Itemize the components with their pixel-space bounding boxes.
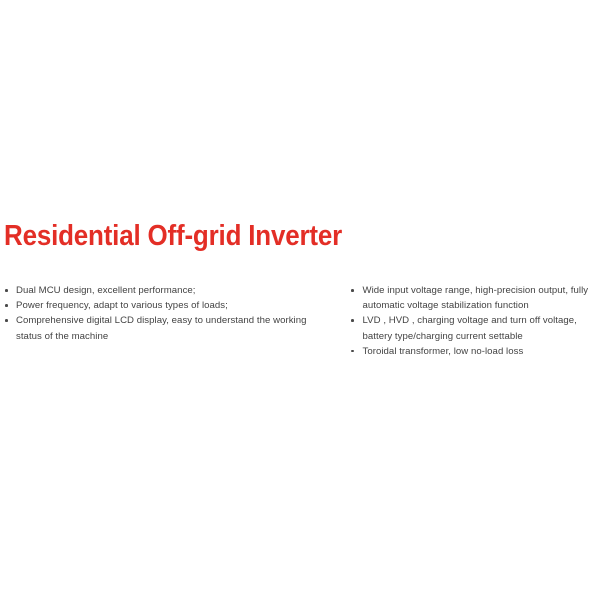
- feature-text: Wide input voltage range, high-precision…: [363, 283, 600, 313]
- bullet-dot-icon: [351, 289, 354, 292]
- feature-column-right: Wide input voltage range, high-precision…: [351, 283, 599, 359]
- list-item: Power frequency, adapt to various types …: [5, 298, 335, 313]
- bullet-dot-icon: [5, 289, 8, 292]
- feature-list-right: Wide input voltage range, high-precision…: [351, 283, 599, 359]
- list-item: Comprehensive digital LCD display, easy …: [5, 313, 335, 343]
- bullet-dot-icon: [5, 319, 8, 322]
- feature-list-left: Dual MCU design, excellent performance; …: [5, 283, 335, 344]
- product-feature-slide: Residential Off-grid Inverter Dual MCU d…: [0, 0, 600, 600]
- bullet-dot-icon: [5, 304, 8, 307]
- page-title: Residential Off-grid Inverter: [4, 219, 342, 253]
- feature-column-left: Dual MCU design, excellent performance; …: [5, 283, 335, 344]
- feature-text: Comprehensive digital LCD display, easy …: [16, 313, 335, 343]
- feature-text: Dual MCU design, excellent performance;: [16, 283, 335, 298]
- bullet-dot-icon: [351, 319, 354, 322]
- list-item: Wide input voltage range, high-precision…: [351, 283, 599, 313]
- bullet-dot-icon: [351, 350, 354, 353]
- list-item: Dual MCU design, excellent performance;: [5, 283, 335, 298]
- list-item: LVD , HVD , charging voltage and turn of…: [351, 313, 599, 343]
- feature-text: LVD , HVD , charging voltage and turn of…: [363, 313, 600, 343]
- feature-text: Toroidal transformer, low no-load loss: [363, 344, 600, 359]
- feature-columns: Dual MCU design, excellent performance; …: [0, 283, 600, 383]
- feature-text: Power frequency, adapt to various types …: [16, 298, 335, 313]
- list-item: Toroidal transformer, low no-load loss: [351, 344, 599, 359]
